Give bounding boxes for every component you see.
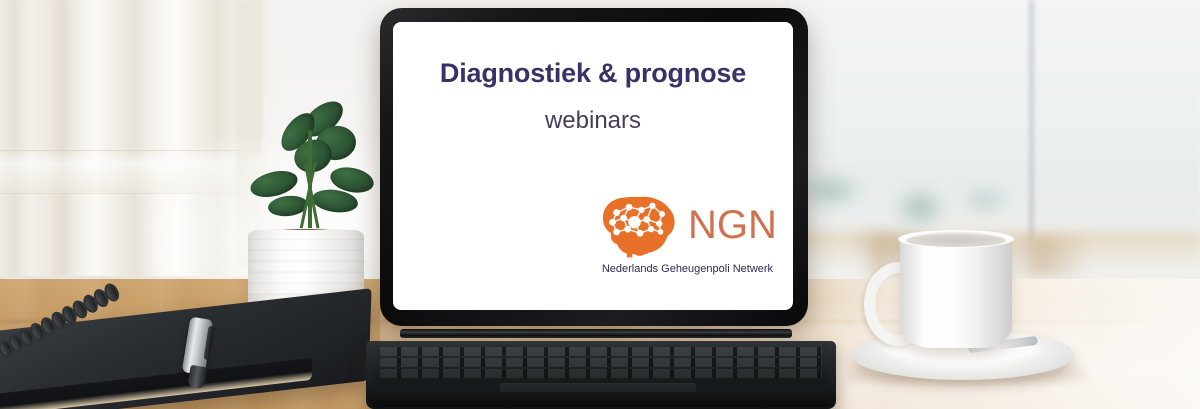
cup-interior bbox=[906, 234, 1006, 247]
keyboard-key-row[interactable] bbox=[380, 358, 822, 367]
keyboard-key-row[interactable] bbox=[380, 369, 822, 378]
tablet-hinge bbox=[400, 329, 792, 338]
keyboard-key-row[interactable] bbox=[380, 347, 822, 356]
brain-network-icon bbox=[598, 192, 682, 258]
window-frame bbox=[1028, 0, 1035, 240]
slide-subtitle: webinars bbox=[545, 107, 641, 135]
ngn-tagline: Nederlands Geheugenpoli Netwerk bbox=[602, 263, 773, 275]
logo-row: NGN bbox=[598, 192, 777, 258]
slide-title: Diagnostiek & prognose bbox=[440, 58, 746, 89]
tablet-screen[interactable]: Diagnostiek & prognose webinars bbox=[393, 22, 793, 310]
ngn-logo: NGN Nederlands Geheugenpoli Netwerk bbox=[598, 192, 777, 275]
ngn-wordmark: NGN bbox=[688, 205, 777, 245]
presentation-slide: Diagnostiek & prognose webinars bbox=[393, 22, 793, 310]
cup-body bbox=[900, 236, 1012, 348]
keyboard-front-edge bbox=[368, 392, 834, 407]
webinar-banner-scene: Diagnostiek & prognose webinars bbox=[0, 0, 1200, 409]
